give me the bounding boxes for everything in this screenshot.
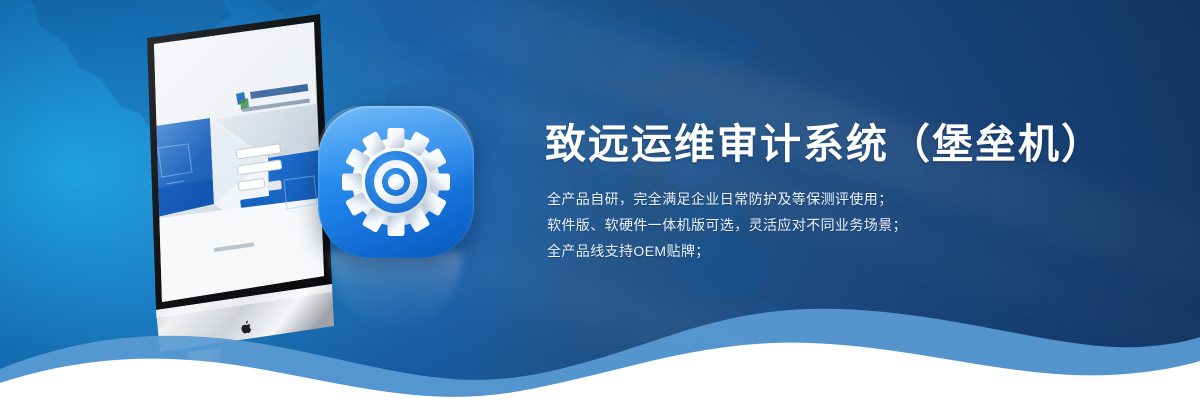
wave-decoration xyxy=(0,295,1200,405)
feature-list: 全产品自研，完全满足企业日常防护及等保测评使用； 软件版、软硬件一体机版可选，灵… xyxy=(547,188,1165,262)
feature-item: 全产品线支持OEM贴牌； xyxy=(547,240,1165,262)
product-banner: 致远运维审计系统（堡垒机） 全产品自研，完全满足企业日常防护及等保测评使用； 软… xyxy=(0,0,1200,405)
feature-item: 全产品自研，完全满足企业日常防护及等保测评使用； xyxy=(547,188,1165,210)
page-title: 致远运维审计系统（堡垒机） xyxy=(545,118,1165,170)
feature-item: 软件版、软硬件一体机版可选，灵活应对不同业务场景； xyxy=(547,214,1165,236)
gear-icon xyxy=(318,106,474,258)
banner-copy: 致远运维审计系统（堡垒机） 全产品自研，完全满足企业日常防护及等保测评使用； 软… xyxy=(545,118,1165,266)
